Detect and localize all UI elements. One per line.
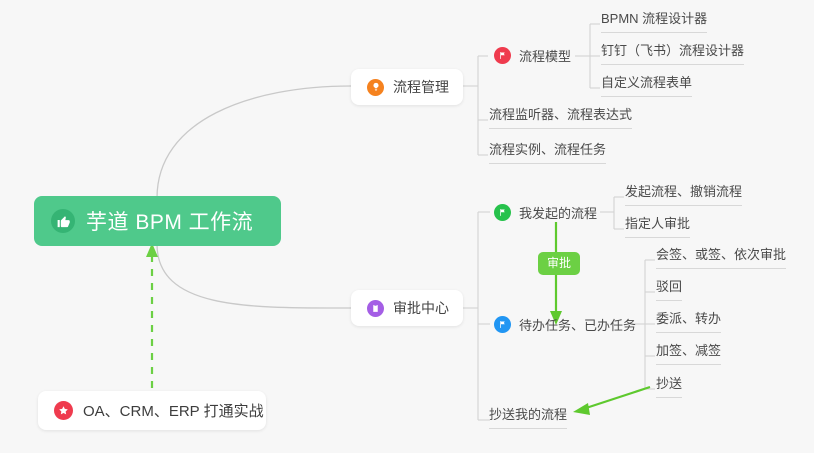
leaf-custom-process-form[interactable]: 自定义流程表单 — [601, 75, 692, 97]
cc-flow-arrow — [573, 387, 650, 415]
clipboard-icon — [367, 300, 384, 317]
thumbs-up-icon — [51, 209, 75, 233]
flag-icon — [494, 47, 511, 64]
leaf-reject[interactable]: 驳回 — [656, 279, 682, 301]
branch-label: 流程管理 — [393, 77, 449, 97]
branch-label: 审批中心 — [393, 298, 449, 318]
mindmap-canvas: 芋道 BPM 工作流 流程管理 流程模型 BPMN 流程设计器 钉钉（飞书）流程… — [0, 0, 814, 453]
flag-icon — [494, 316, 511, 333]
branch-node-process-management[interactable]: 流程管理 — [351, 69, 463, 105]
leaf-cc-to-me-processes[interactable]: 抄送我的流程 — [489, 407, 567, 429]
lightbulb-icon — [367, 79, 384, 96]
leaf-process-instance-task[interactable]: 流程实例、流程任务 — [489, 142, 606, 164]
root-node[interactable]: 芋道 BPM 工作流 — [34, 196, 281, 246]
integration-node[interactable]: OA、CRM、ERP 打通实战 — [38, 391, 266, 430]
approval-chip: 审批 — [538, 252, 580, 275]
leaf-add-remove-sign[interactable]: 加签、减签 — [656, 343, 721, 365]
node-label: 我发起的流程 — [519, 203, 597, 222]
leaf-assignee-approval[interactable]: 指定人审批 — [625, 216, 690, 238]
node-label: 待办任务、已办任务 — [519, 315, 636, 334]
root-label: 芋道 BPM 工作流 — [86, 206, 253, 236]
integration-label: OA、CRM、ERP 打通实战 — [83, 400, 264, 421]
node-process-model[interactable]: 流程模型 — [494, 46, 571, 65]
leaf-process-listener-expression[interactable]: 流程监听器、流程表达式 — [489, 107, 632, 129]
leaf-countersign-orsign-sequential[interactable]: 会签、或签、依次审批 — [656, 247, 786, 269]
leaf-cc[interactable]: 抄送 — [656, 376, 682, 398]
node-label: 流程模型 — [519, 46, 571, 65]
leaf-dingtalk-feishu-designer[interactable]: 钉钉（飞书）流程设计器 — [601, 43, 744, 65]
branch-node-approval-center[interactable]: 审批中心 — [351, 290, 463, 326]
node-todo-done-tasks[interactable]: 待办任务、已办任务 — [494, 315, 636, 334]
node-my-started-processes[interactable]: 我发起的流程 — [494, 203, 597, 222]
leaf-start-cancel-process[interactable]: 发起流程、撤销流程 — [625, 184, 742, 206]
leaf-delegate-transfer[interactable]: 委派、转办 — [656, 311, 721, 333]
integration-dashed-arrow — [146, 243, 158, 388]
leaf-bpmn-designer[interactable]: BPMN 流程设计器 — [601, 11, 707, 33]
flag-icon — [494, 204, 511, 221]
star-icon — [54, 401, 73, 420]
